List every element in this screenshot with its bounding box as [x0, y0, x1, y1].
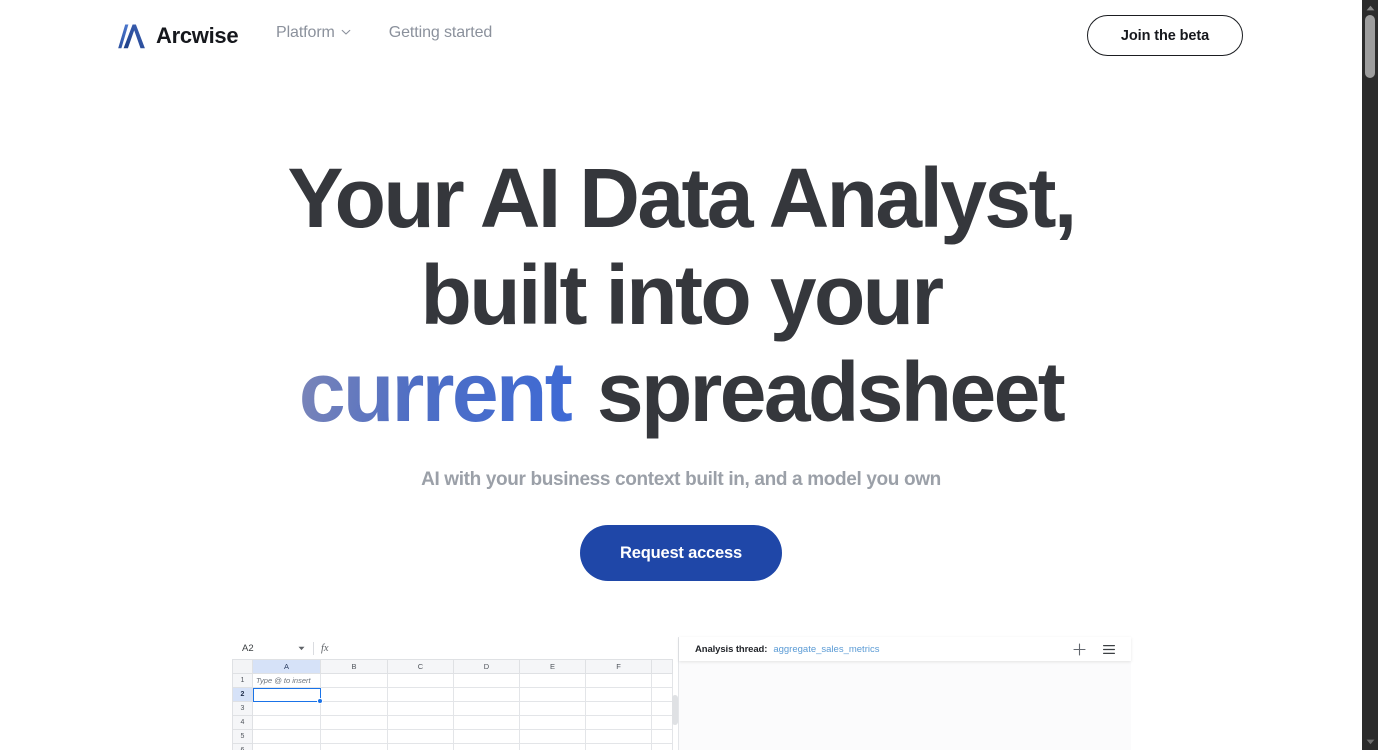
cell-d5[interactable]: [454, 730, 520, 744]
hero-subheadline: AI with your business context built in, …: [0, 469, 1362, 491]
headline-line-1: Your AI Data Analyst,: [0, 150, 1362, 247]
grid-table: A B C D E F 1 T: [232, 659, 673, 750]
product-mockup: A2 fx A: [232, 637, 1131, 750]
toolbar-divider: [313, 642, 314, 655]
row-header-6[interactable]: 6: [233, 744, 253, 750]
cell-c3[interactable]: [388, 702, 454, 716]
cell-f5[interactable]: [586, 730, 652, 744]
row-header-5[interactable]: 5: [233, 730, 253, 744]
fx-icon[interactable]: fx: [321, 643, 329, 654]
brand-name: Arcwise: [156, 25, 238, 47]
spreadsheet-grid[interactable]: A B C D E F 1 T: [232, 659, 679, 750]
column-header-b[interactable]: B: [321, 660, 388, 674]
cell-d2[interactable]: [454, 688, 520, 702]
column-header-f[interactable]: F: [586, 660, 652, 674]
cell-c4[interactable]: [388, 716, 454, 730]
row-header-2[interactable]: 2: [233, 688, 253, 702]
scrollbar-thumb[interactable]: [1365, 15, 1375, 78]
row-header-1[interactable]: 1: [233, 674, 253, 688]
cell-g6[interactable]: [652, 744, 673, 750]
column-header-c[interactable]: C: [388, 660, 454, 674]
cell-f6[interactable]: [586, 744, 652, 750]
cell-d6[interactable]: [454, 744, 520, 750]
browser-scrollbar[interactable]: [1362, 0, 1378, 750]
cell-c5[interactable]: [388, 730, 454, 744]
spreadsheet-vertical-scrollbar[interactable]: [672, 695, 678, 750]
cell-e4[interactable]: [520, 716, 586, 730]
fill-handle[interactable]: [317, 698, 323, 704]
spreadsheet-app: A2 fx A: [232, 637, 679, 750]
nav-item-platform-label: Platform: [276, 24, 335, 42]
cell-f3[interactable]: [586, 702, 652, 716]
column-header-a[interactable]: A: [253, 660, 321, 674]
analysis-panel: Analysis thread: aggregate_sales_metrics: [679, 637, 1131, 750]
cell-b5[interactable]: [321, 730, 388, 744]
cell-g2[interactable]: [652, 688, 673, 702]
nav-item-getting-started[interactable]: Getting started: [389, 24, 492, 42]
analysis-panel-header: Analysis thread: aggregate_sales_metrics: [679, 637, 1131, 661]
column-header-d[interactable]: D: [454, 660, 520, 674]
cell-name-box[interactable]: A2: [238, 643, 294, 654]
page-root: Arcwise Platform Getting started Join th…: [0, 0, 1378, 750]
cell-g1[interactable]: [652, 674, 673, 688]
headline-line-3: current spreadsheet: [0, 344, 1362, 441]
hero-cta-wrapper: Request access: [0, 525, 1362, 581]
arcwise-logo-icon: [118, 23, 146, 50]
hamburger-menu-icon[interactable]: [1100, 640, 1118, 658]
cell-g4[interactable]: [652, 716, 673, 730]
cell-c1[interactable]: [388, 674, 454, 688]
cell-d3[interactable]: [454, 702, 520, 716]
table-row: 6: [233, 744, 673, 750]
cell-a4[interactable]: [253, 716, 321, 730]
cell-f1[interactable]: [586, 674, 652, 688]
nav-item-platform[interactable]: Platform: [276, 24, 351, 42]
page-viewport: Arcwise Platform Getting started Join th…: [0, 0, 1362, 750]
cell-f4[interactable]: [586, 716, 652, 730]
nav-links: Platform Getting started: [276, 24, 492, 42]
cell-a2-active[interactable]: [253, 688, 321, 702]
cell-e6[interactable]: [520, 744, 586, 750]
cell-b6[interactable]: [321, 744, 388, 750]
cell-b3[interactable]: [321, 702, 388, 716]
analysis-thread-label: Analysis thread:: [695, 644, 767, 655]
analysis-thread-name[interactable]: aggregate_sales_metrics: [773, 644, 879, 655]
cell-c2[interactable]: [388, 688, 454, 702]
headline-line-2: built into your: [0, 247, 1362, 344]
cell-g5[interactable]: [652, 730, 673, 744]
cell-e3[interactable]: [520, 702, 586, 716]
cell-c6[interactable]: [388, 744, 454, 750]
plus-icon[interactable]: [1070, 640, 1088, 658]
cell-e2[interactable]: [520, 688, 586, 702]
grid-corner-cell[interactable]: [233, 660, 253, 674]
cell-b2[interactable]: [321, 688, 388, 702]
cell-b1[interactable]: [321, 674, 388, 688]
cell-a3[interactable]: [253, 702, 321, 716]
join-beta-button[interactable]: Join the beta: [1087, 15, 1243, 56]
hero-section: Your AI Data Analyst, built into your cu…: [0, 150, 1362, 581]
scroll-up-arrow-icon[interactable]: [1362, 1, 1378, 15]
row-header-4[interactable]: 4: [233, 716, 253, 730]
row-header-3[interactable]: 3: [233, 702, 253, 716]
spreadsheet-scrollbar-thumb[interactable]: [672, 695, 678, 725]
cell-d4[interactable]: [454, 716, 520, 730]
analysis-panel-body: [679, 661, 1131, 750]
caret-down-icon[interactable]: [294, 646, 308, 651]
chevron-down-icon: [341, 27, 351, 37]
request-access-button[interactable]: Request access: [580, 525, 782, 581]
cell-e1[interactable]: [520, 674, 586, 688]
table-row: 2: [233, 688, 673, 702]
column-header-e[interactable]: E: [520, 660, 586, 674]
nav-item-getting-started-label: Getting started: [389, 24, 492, 42]
brand-logo-link[interactable]: Arcwise: [118, 20, 238, 52]
scroll-down-arrow-icon[interactable]: [1362, 735, 1378, 749]
cell-b4[interactable]: [321, 716, 388, 730]
cell-e5[interactable]: [520, 730, 586, 744]
table-row: 1 Type @ to insert: [233, 674, 673, 688]
page-title: Your AI Data Analyst, built into your cu…: [0, 150, 1362, 441]
column-header-g[interactable]: [652, 660, 673, 674]
spreadsheet-toolbar: A2 fx: [232, 637, 679, 659]
table-row: 5: [233, 730, 673, 744]
cell-f2[interactable]: [586, 688, 652, 702]
headline-line-3-rest: spreadsheet: [597, 345, 1063, 439]
cell-a1[interactable]: Type @ to insert: [253, 674, 321, 688]
cell-g3[interactable]: [652, 702, 673, 716]
cell-a6[interactable]: [253, 744, 321, 750]
cell-d1[interactable]: [454, 674, 520, 688]
site-navbar: Arcwise Platform Getting started Join th…: [0, 0, 1362, 72]
cell-a5[interactable]: [253, 730, 321, 744]
table-row: 3: [233, 702, 673, 716]
table-row: 4: [233, 716, 673, 730]
headline-highlight-current: current: [299, 345, 576, 439]
column-header-row: A B C D E F: [233, 660, 673, 674]
